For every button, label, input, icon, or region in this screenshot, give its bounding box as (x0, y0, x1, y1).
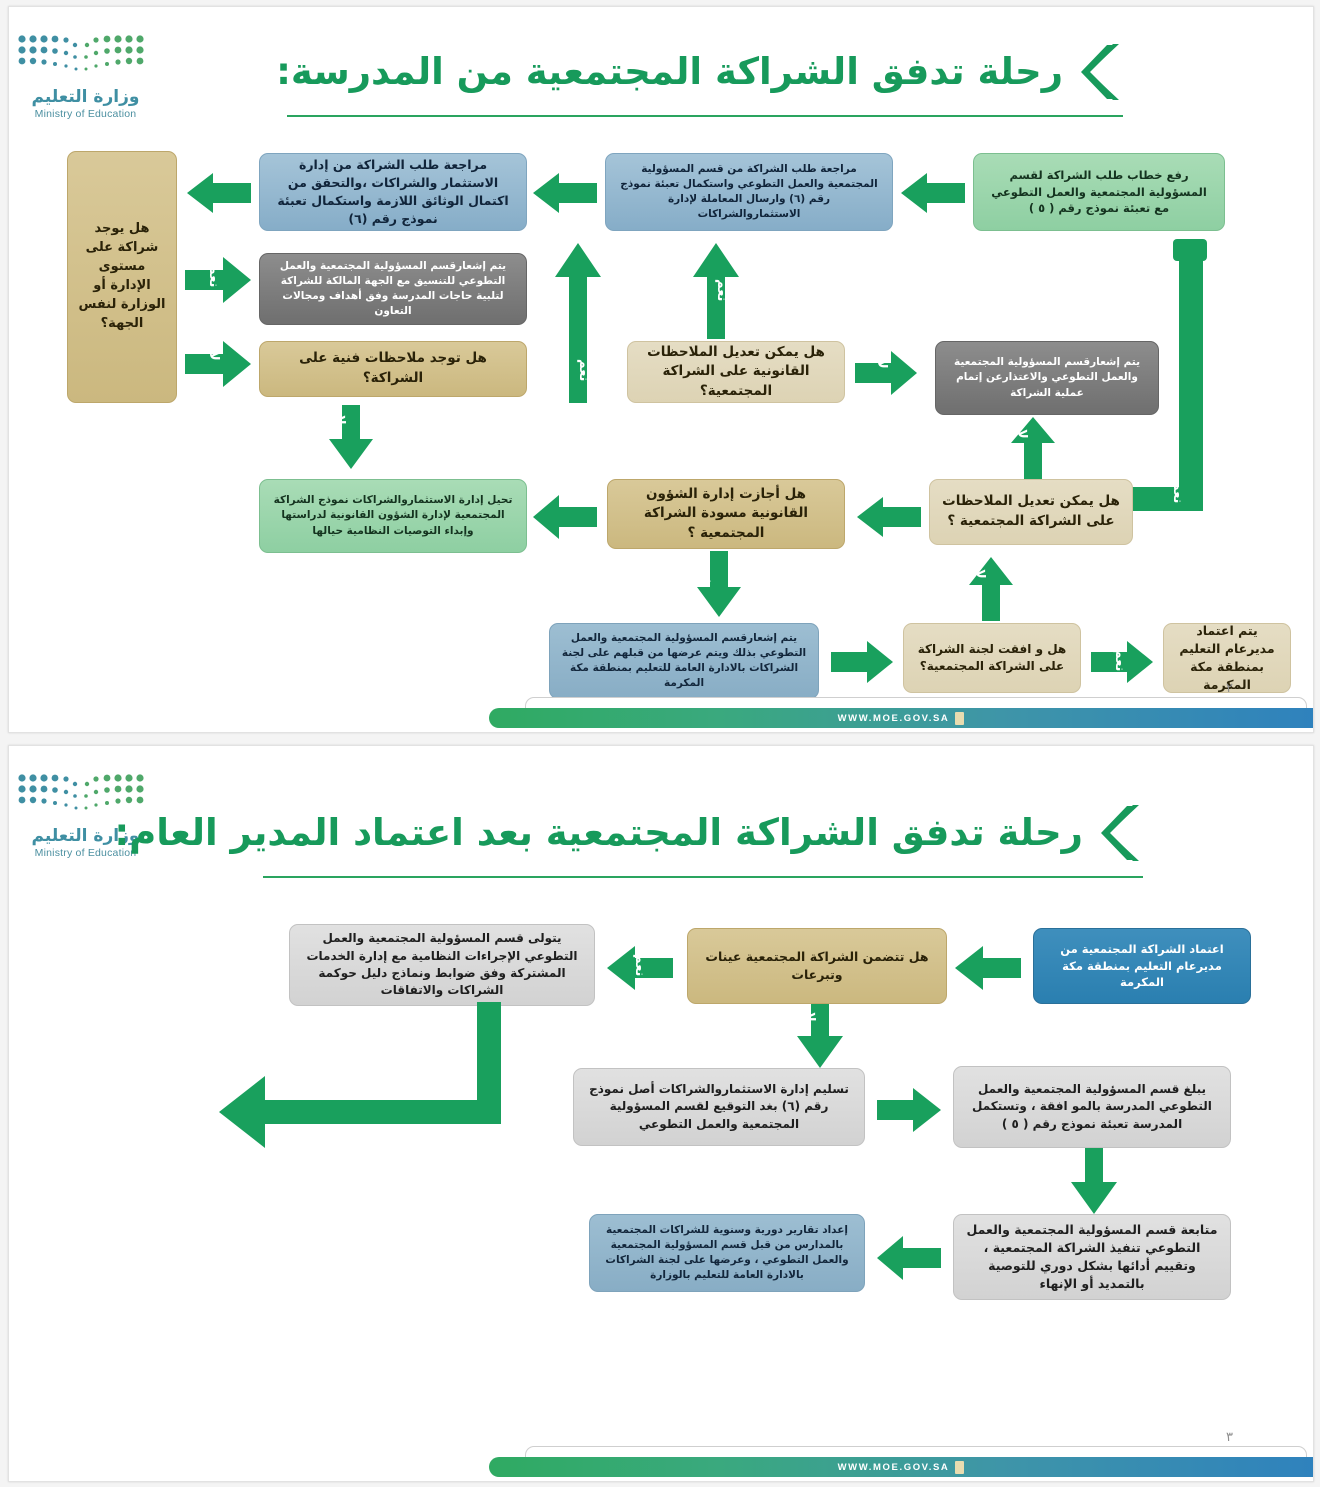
arrow-left-yes-s2 (607, 946, 673, 990)
flow-node-deliver-original-form[interactable]: تسليم إدارة الاستثماروالشراكات أصل نموذج… (573, 1068, 865, 1146)
bookmark-icon (955, 712, 964, 725)
flow-decision-committee-approved[interactable]: هل و افقت لجنة الشراكة على الشراكة المجت… (903, 623, 1081, 693)
arrow-down-yes-4 (697, 551, 741, 617)
footer-bar: WWW.MOE.GOV.SA (489, 708, 1313, 728)
arrow-right-yes-5 (1091, 641, 1153, 683)
flow-decision-existing-partnership[interactable]: هل يوجد شراكة على مستوى الإدارة أو الوزا… (67, 151, 177, 403)
slide-school-partnership-flow: وزارة التعليم Ministry of Education رحلة… (8, 6, 1314, 733)
flow-node-request-letter[interactable]: رفع خطاب طلب الشراكة لقسم المسؤولية المج… (973, 153, 1225, 231)
arrow-left-r1c (187, 173, 251, 213)
flowchart-canvas-1: رفع خطاب طلب الشراكة لقسم المسؤولية المج… (9, 7, 1313, 732)
flow-decision-notes-editable-2[interactable]: هل يمكن تعديل الملاحظات على الشراكة المج… (929, 479, 1133, 545)
footer-bar-2: WWW.MOE.GOV.SA (489, 1457, 1313, 1477)
flow-node-refer-to-legal[interactable]: تحيل إدارة الاستثماروالشراكات نموذج الشر… (259, 479, 527, 553)
arrow-down-no-3 (329, 405, 373, 469)
arrow-down-no-s2 (797, 1004, 843, 1068)
flow-node-review-investment[interactable]: مراجعة طلب الشراكة من إدارة الاستثمار وا… (259, 153, 527, 231)
arrow-right-no-1 (185, 341, 251, 387)
flow-node-committee-notice[interactable]: يتم إشعارقسم المسؤولية المجتمعية والعمل … (549, 623, 819, 699)
arrow-right-s2-r2 (877, 1088, 941, 1132)
flow-node-shared-services-procedures[interactable]: يتولى قسم المسؤولية المجتمعية والعمل الت… (289, 924, 595, 1006)
arrow-up-middle (693, 243, 739, 339)
flow-node-partnership-approved[interactable]: اعتماد الشراكة المجتمعية من مديرعام التع… (1033, 928, 1251, 1004)
flow-node-review-by-dept[interactable]: مراجعة طلب الشراكة من قسم المسؤولية المج… (605, 153, 893, 231)
arrow-left-s2-r1a (955, 946, 1021, 990)
arrow-left-r1a (901, 173, 965, 213)
slide-post-approval-flow: وزارة التعليم Ministry of Education رحلة… (8, 745, 1314, 1482)
bookmark-icon (955, 1461, 964, 1474)
flow-decision-samples-donations[interactable]: هل تتضمن الشراكة المجتمعية عينات وتبرعات (687, 928, 947, 1004)
flow-decision-legal-notes-editable[interactable]: هل يمكن تعديل الملاحظات القانونية على ال… (627, 341, 845, 403)
flow-node-followup-execution[interactable]: متابعة قسم المسؤولية المجتمعية والعمل ال… (953, 1214, 1231, 1300)
arrow-up-tall-left (555, 243, 601, 403)
arrow-left-r4b (857, 497, 921, 537)
slide-footer-1: WWW.MOE.GOV.SA (9, 692, 1313, 732)
flow-node-periodic-reports[interactable]: إعداد تقارير دورية وسنوية للشراكات المجت… (589, 1214, 865, 1292)
arrow-up-no-4 (1011, 417, 1055, 479)
flow-node-notify-school-approval[interactable]: يبلغ قسم المسؤولية المجتمعية والعمل التط… (953, 1066, 1231, 1148)
arrow-up-no-5 (969, 557, 1013, 621)
arrow-left-s2-r3 (877, 1236, 941, 1280)
arrow-right-r5a (831, 641, 893, 683)
elbow-connector-s2 (153, 1002, 523, 1152)
arrow-down-s2-r2 (1071, 1148, 1117, 1214)
footer-website-url-2[interactable]: WWW.MOE.GOV.SA (838, 1462, 950, 1473)
arrow-left-r4a (533, 495, 597, 539)
arrow-left-r1b (533, 173, 597, 213)
flow-decision-technical-notes[interactable]: هل توجد ملاحظات فنية على الشراكة؟ (259, 341, 527, 397)
presentation-deck: وزارة التعليم Ministry of Education رحلة… (0, 0, 1320, 1487)
flow-decision-legal-approved[interactable]: هل أجازت إدارة الشؤون القانونية مسودة ال… (607, 479, 845, 549)
footer-website-url[interactable]: WWW.MOE.GOV.SA (838, 713, 950, 724)
slide-footer-2: WWW.MOE.GOV.SA (9, 1441, 1313, 1481)
flowchart-canvas-2: اعتماد الشراكة المجتمعية من مديرعام التع… (9, 746, 1313, 1481)
arrow-right-no-2 (855, 351, 917, 395)
flow-node-notify-coordination[interactable]: يتم إشعارقسم المسؤولية المجتمعية والعمل … (259, 253, 527, 325)
arrow-right-yes-1 (185, 257, 251, 303)
